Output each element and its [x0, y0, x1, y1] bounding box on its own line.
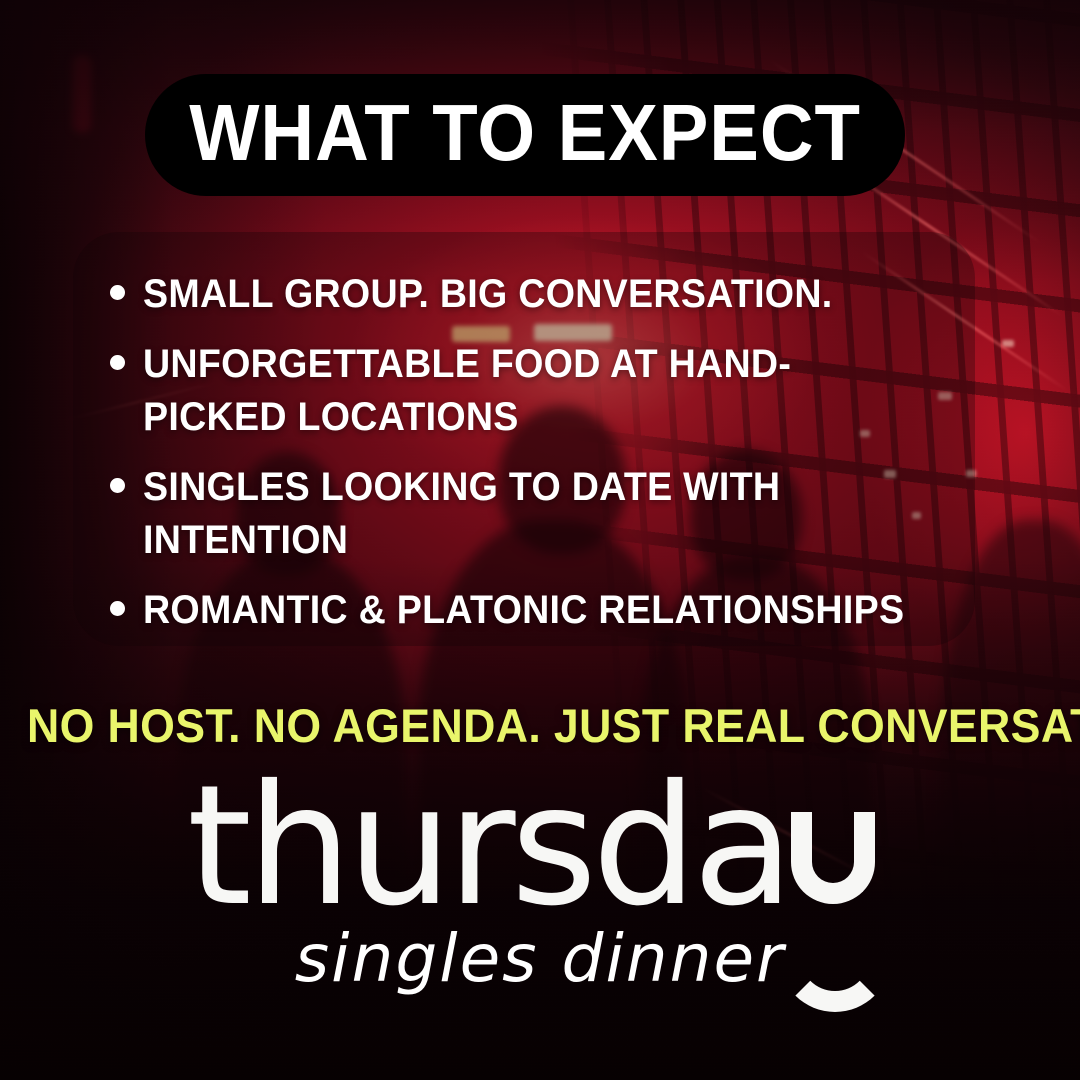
bullet-dot-icon: [110, 285, 125, 300]
list-item: UNFORGETTABLE FOOD AT HAND-PICKED LOCATI…: [110, 338, 980, 445]
brand-logo: thursda: [0, 768, 1080, 938]
poster-content: WHAT TO EXPECT SMALL GROUP. BIG CONVERSA…: [0, 0, 1080, 1080]
logo-wordmark: thursda: [187, 768, 893, 938]
title-banner: WHAT TO EXPECT: [145, 74, 905, 196]
list-item: SMALL GROUP. BIG CONVERSATION.: [110, 268, 980, 322]
list-item-label: SMALL GROUP. BIG CONVERSATION.: [143, 268, 833, 322]
list-item: SINGLES LOOKING TO DATE WITH INTENTION: [110, 461, 980, 568]
logo-subtitle: singles dinner: [0, 926, 1080, 992]
list-item: ROMANTIC & PLATONIC RELATIONSHIPS: [110, 584, 980, 638]
logo-smile-y-icon: [785, 768, 893, 938]
list-item-label: ROMANTIC & PLATONIC RELATIONSHIPS: [143, 584, 904, 638]
bullet-dot-icon: [110, 601, 125, 616]
poster-canvas: WHAT TO EXPECT SMALL GROUP. BIG CONVERSA…: [0, 0, 1080, 1080]
logo-wordmark-text: thursda: [187, 768, 789, 926]
bullet-dot-icon: [110, 478, 125, 493]
expectations-list: SMALL GROUP. BIG CONVERSATION. UNFORGETT…: [110, 268, 980, 654]
bullet-dot-icon: [110, 355, 125, 370]
list-item-label: UNFORGETTABLE FOOD AT HAND-PICKED LOCATI…: [143, 338, 930, 445]
page-title: WHAT TO EXPECT: [189, 93, 861, 173]
tagline: NO HOST. NO AGENDA. JUST REAL CONVERSATI…: [27, 702, 1053, 749]
list-item-label: SINGLES LOOKING TO DATE WITH INTENTION: [143, 461, 930, 568]
